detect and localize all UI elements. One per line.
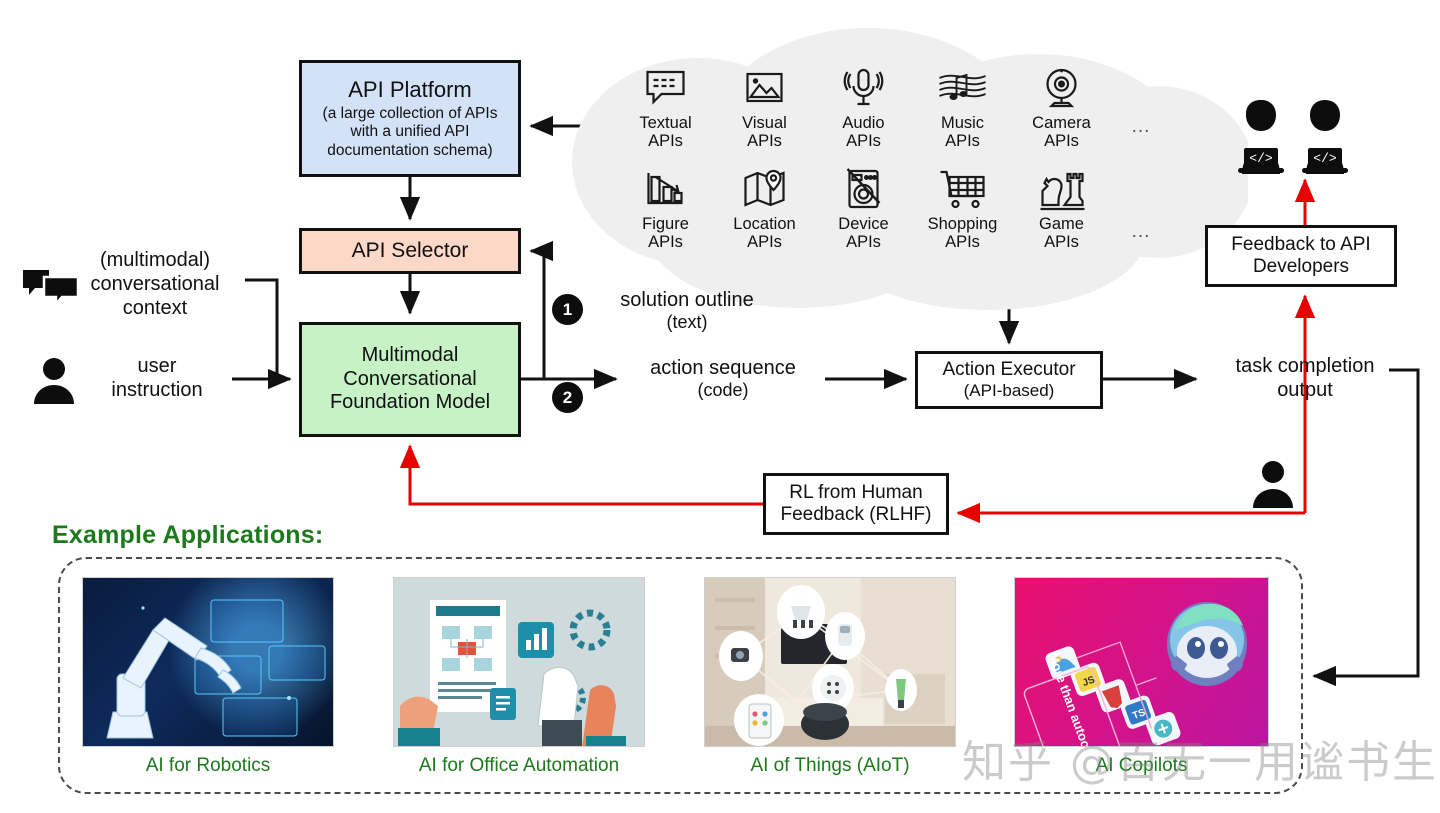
foundation-model-line-1: Multimodal [362, 344, 459, 368]
api-platform-subtitle-3: documentation schema) [327, 142, 492, 160]
api-row-1: Textual APIs Visual APIs [616, 64, 1216, 151]
example-applications-title: Example Applications: [52, 521, 323, 550]
user-icon [32, 356, 76, 404]
api-selector-title: API Selector [352, 239, 469, 264]
application-card-aiot[interactable]: AI of Things (AIoT) [704, 577, 956, 777]
api-item-camera[interactable]: Camera APIs [1012, 64, 1111, 151]
api-label-line2: APIs [715, 233, 814, 251]
feedback-dev-line-1: Feedback to API [1231, 234, 1370, 256]
api-item-device[interactable]: Device APIs [814, 165, 913, 252]
textual-api-icon [616, 64, 715, 112]
api-item-audio[interactable]: Audio APIs [814, 64, 913, 151]
api-cloud: Textual APIs Visual APIs [568, 22, 1248, 312]
foundation-model-line-2: Conversational [343, 368, 476, 392]
api-label-line2: APIs [814, 132, 913, 150]
visual-api-icon [715, 64, 814, 112]
action-executor-box[interactable]: Action Executor (API-based) [915, 351, 1103, 409]
figure-api-icon [616, 165, 715, 213]
api-item-label: Audio APIs [814, 114, 913, 151]
action-sequence-sub: (code) [618, 380, 828, 402]
api-label-line1: Figure [616, 215, 715, 233]
end-user-icon [1250, 458, 1296, 508]
api-item-label: Music APIs [913, 114, 1012, 151]
api-platform-subtitle-1: (a large collection of APIs [323, 105, 498, 123]
api-label-line1: Audio [814, 114, 913, 132]
api-selector-box[interactable]: API Selector [299, 228, 521, 274]
action-sequence-label: action sequence (code) [618, 356, 828, 402]
developer-female-icon: </> [1232, 98, 1290, 176]
music-api-icon [913, 64, 1012, 112]
context-line-1: (multimodal) [60, 248, 250, 272]
api-item-label: Camera APIs [1012, 114, 1111, 151]
camera-api-icon [1012, 64, 1111, 112]
svg-text:</>: </> [1313, 151, 1337, 166]
application-card-robotics[interactable]: AI for Robotics [82, 577, 334, 777]
api-label-line2: APIs [1012, 132, 1111, 150]
api-label-line1: Shopping [913, 215, 1012, 233]
api-label-line1: Device [814, 215, 913, 233]
solution-outline-main: solution outline [592, 288, 782, 312]
feedback-dev-line-2: Developers [1253, 256, 1349, 278]
audio-api-icon [814, 64, 913, 112]
api-item-game[interactable]: Game APIs [1012, 165, 1111, 252]
api-item-label: Figure APIs [616, 215, 715, 252]
rlhf-box[interactable]: RL from Human Feedback (RLHF) [763, 473, 949, 535]
api-label-line2: APIs [913, 132, 1012, 150]
api-item-label: Textual APIs [616, 114, 715, 151]
application-caption: AI for Robotics [82, 755, 334, 777]
user-instruction-label: user instruction [92, 354, 222, 402]
location-api-icon [715, 165, 814, 213]
user-instruction-line-2: instruction [92, 378, 222, 402]
office-automation-illustration-image [393, 577, 645, 747]
api-item-figure[interactable]: Figure APIs [616, 165, 715, 252]
application-caption: AI of Things (AIoT) [704, 755, 956, 777]
multimodal-context-label: (multimodal) conversational context [60, 248, 250, 320]
api-item-label: Visual APIs [715, 114, 814, 151]
action-sequence-main: action sequence [618, 356, 828, 380]
api-item-location[interactable]: Location APIs [715, 165, 814, 252]
api-label-line1: Visual [715, 114, 814, 132]
api-label-line2: APIs [715, 132, 814, 150]
api-item-label: Location APIs [715, 215, 814, 252]
context-line-3: context [60, 296, 250, 320]
context-line-2: conversational [60, 272, 250, 296]
game-api-icon [1012, 165, 1111, 213]
task-output-line-2: output [1200, 378, 1410, 402]
api-label-line1: Camera [1012, 114, 1111, 132]
shopping-api-icon [913, 165, 1012, 213]
feedback-to-developers-box[interactable]: Feedback to API Developers [1205, 225, 1397, 287]
task-output-line-1: task completion [1200, 354, 1410, 378]
api-icon-grid: Textual APIs Visual APIs [616, 64, 1216, 252]
api-platform-box[interactable]: API Platform (a large collection of APIs… [299, 60, 521, 177]
api-row2-ellipsis: ... [1111, 165, 1171, 243]
api-item-textual[interactable]: Textual APIs [616, 64, 715, 151]
foundation-model-box[interactable]: Multimodal Conversational Foundation Mod… [299, 322, 521, 437]
api-item-label: Shopping APIs [913, 215, 1012, 252]
rlhf-line-1: RL from Human [789, 482, 922, 504]
api-label-line2: APIs [913, 233, 1012, 251]
step-badge-1: 1 [552, 294, 583, 325]
api-item-music[interactable]: Music APIs [913, 64, 1012, 151]
api-platform-subtitle-2: with a unified API [351, 123, 470, 141]
api-row1-ellipsis: ... [1111, 64, 1171, 138]
api-label-line2: APIs [616, 233, 715, 251]
api-label-line1: Textual [616, 114, 715, 132]
api-item-shopping[interactable]: Shopping APIs [913, 165, 1012, 252]
api-developers-group: </> </> [1232, 98, 1354, 176]
api-label-line1: Music [913, 114, 1012, 132]
diagram-canvas: Textual APIs Visual APIs [0, 0, 1440, 813]
application-card-office[interactable]: AI for Office Automation [393, 577, 645, 777]
action-executor-title: Action Executor [942, 359, 1075, 381]
api-label-line1: Game [1012, 215, 1111, 233]
api-label-line1: Location [715, 215, 814, 233]
conversation-bubbles-icon [22, 268, 80, 310]
device-api-icon [814, 165, 913, 213]
task-completion-output-label: task completion output [1200, 354, 1410, 402]
action-executor-subtitle: (API-based) [964, 381, 1055, 401]
api-item-label: Device APIs [814, 215, 913, 252]
solution-outline-sub: (text) [592, 312, 782, 334]
api-label-line2: APIs [814, 233, 913, 251]
developer-male-icon: </> [1296, 98, 1354, 176]
rlhf-line-2: Feedback (RLHF) [781, 504, 932, 526]
smart-home-devices-image [704, 577, 956, 747]
api-label-line2: APIs [616, 132, 715, 150]
robot-arm-hologram-image [82, 577, 334, 747]
api-row-2: Figure APIs Location [616, 165, 1216, 252]
step-badge-2: 2 [552, 382, 583, 413]
api-label-line2: APIs [1012, 233, 1111, 251]
zhihu-watermark: 知乎 @百无一用谧书生 [962, 726, 1438, 790]
user-instruction-line-1: user [92, 354, 222, 378]
svg-text:</>: </> [1249, 151, 1273, 166]
solution-outline-label: solution outline (text) [592, 288, 782, 334]
foundation-model-line-3: Foundation Model [330, 391, 490, 415]
application-caption: AI for Office Automation [393, 755, 645, 777]
api-platform-title: API Platform [348, 77, 471, 103]
api-item-label: Game APIs [1012, 215, 1111, 252]
api-item-visual[interactable]: Visual APIs [715, 64, 814, 151]
copilot-code-suggestions-image: JS TS More than autocomplete [1014, 577, 1269, 747]
